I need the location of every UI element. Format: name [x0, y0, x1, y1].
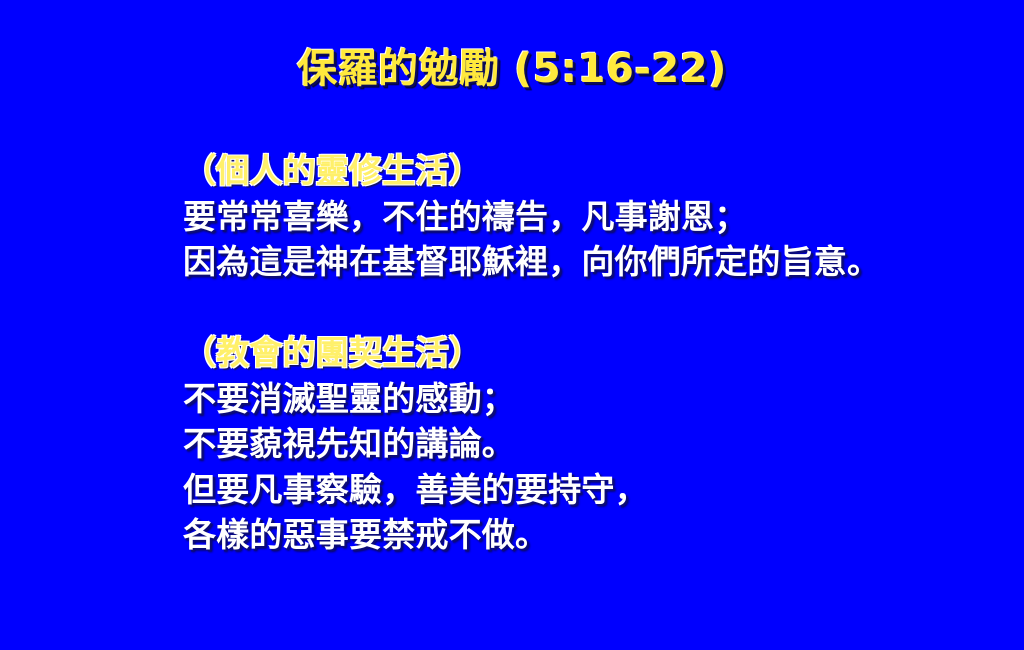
body-line: 不要藐視先知的講論。: [183, 421, 983, 467]
body-line: 要常常喜樂，不住的禱告，凡事謝恩；: [183, 194, 983, 240]
slide-body: （個人的靈修生活） 要常常喜樂，不住的禱告，凡事謝恩； 因為這是神在基督耶穌裡，…: [183, 148, 983, 558]
section-heading-church-fellowship-life: （教會的團契生活）: [183, 330, 983, 376]
body-line: 但要凡事察驗，善美的要持守，: [183, 467, 983, 513]
presentation-slide: 保羅的勉勵 (5:16-22) （個人的靈修生活） 要常常喜樂，不住的禱告，凡事…: [0, 0, 1024, 650]
body-line: 各樣的惡事要禁戒不做。: [183, 512, 983, 558]
section-gap: [183, 285, 983, 331]
slide-title: 保羅的勉勵 (5:16-22): [0, 44, 1024, 94]
body-line: 因為這是神在基督耶穌裡，向你們所定的旨意。: [183, 239, 983, 285]
section-heading-personal-devotional-life: （個人的靈修生活）: [183, 148, 983, 194]
body-line: 不要消滅聖靈的感動；: [183, 376, 983, 422]
